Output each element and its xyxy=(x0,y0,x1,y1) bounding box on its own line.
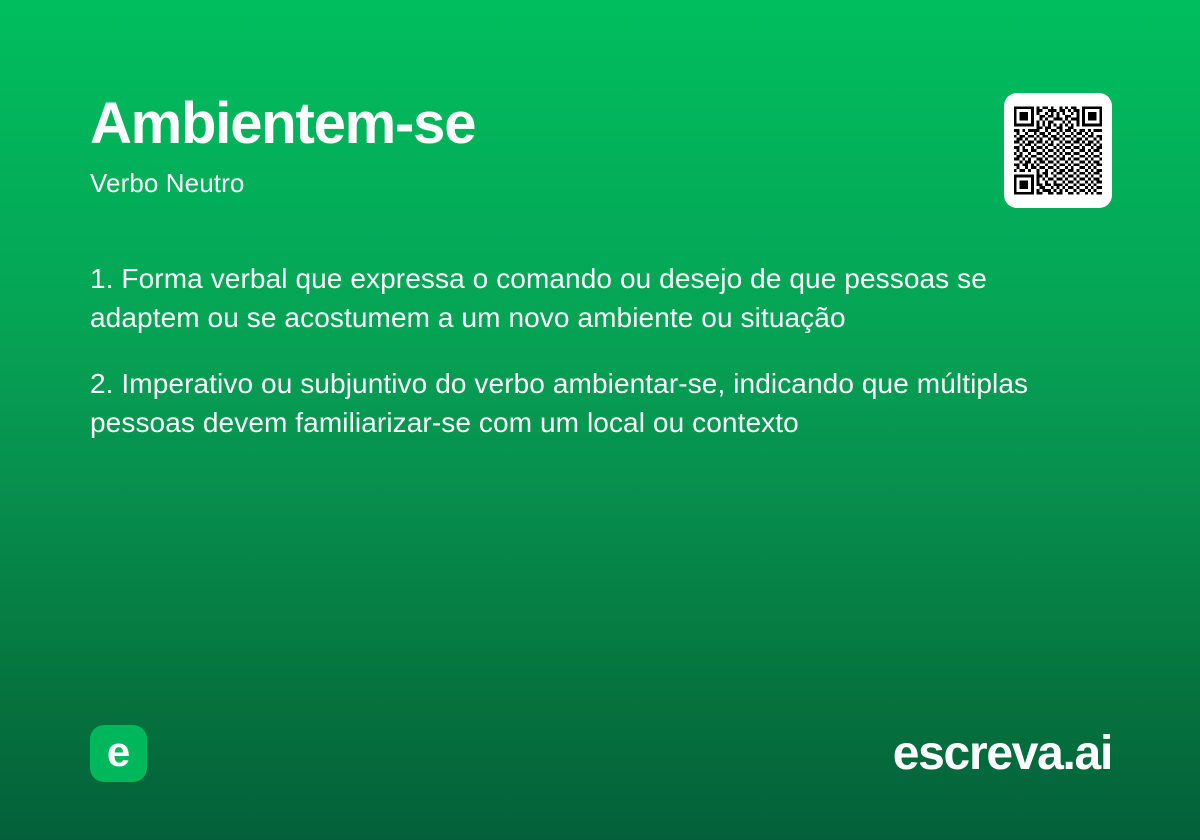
qr-code[interactable] xyxy=(1004,93,1112,208)
definition-list: 1. Forma verbal que expressa o comando o… xyxy=(90,260,1080,443)
logo-letter: e xyxy=(107,731,130,773)
definition-item: 1. Forma verbal que expressa o comando o… xyxy=(90,260,1080,337)
card-footer: e escreva.ai xyxy=(90,725,1112,782)
dictionary-card: Ambientem-se Verbo Neutro 1. Forma verba… xyxy=(0,0,1200,840)
definition-item: 2. Imperativo ou subjuntivo do verbo amb… xyxy=(90,365,1080,442)
page-title: Ambientem-se xyxy=(90,94,475,154)
card-header: Ambientem-se Verbo Neutro xyxy=(90,90,1112,208)
entry-headings: Ambientem-se Verbo Neutro xyxy=(90,90,475,199)
word-class-label: Verbo Neutro xyxy=(90,168,475,199)
escreva-logo-icon: e xyxy=(90,725,147,782)
brand-wordmark: escreva.ai xyxy=(893,730,1112,778)
